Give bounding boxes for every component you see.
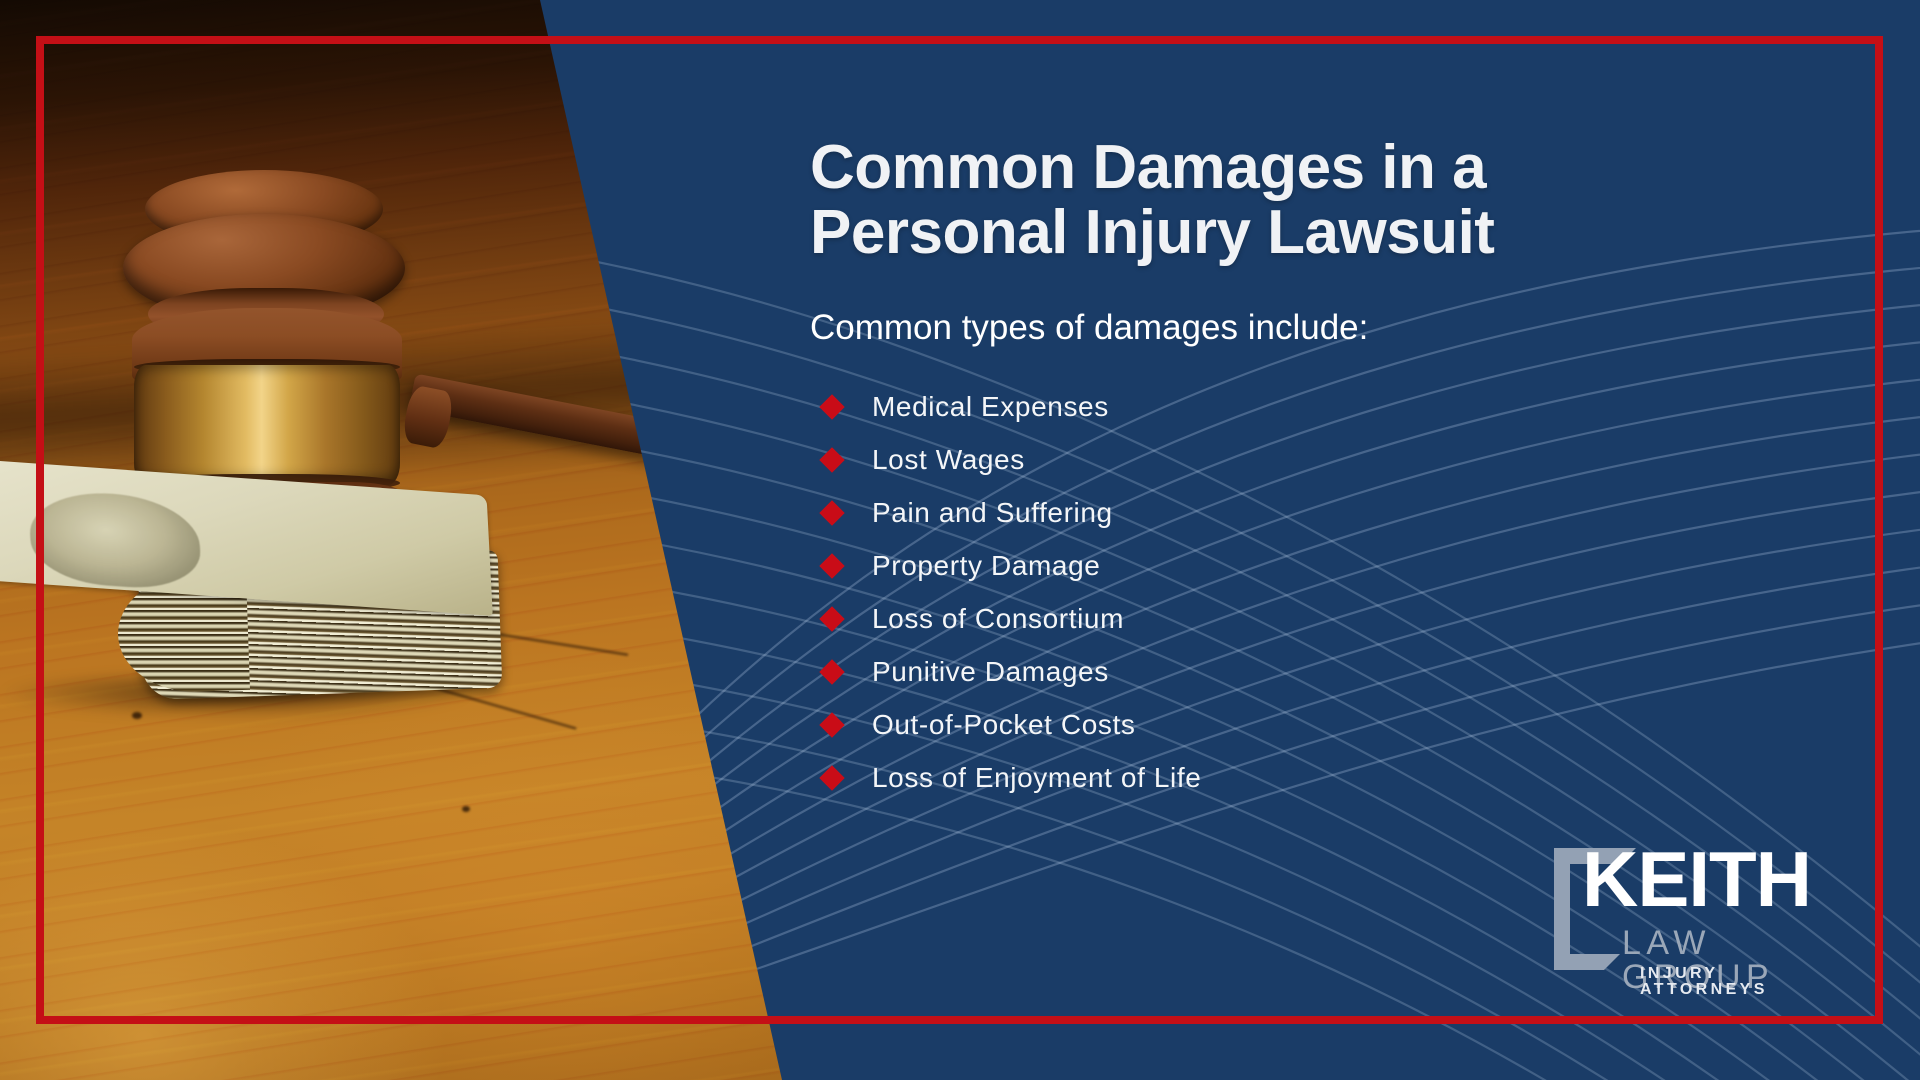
list-item: Punitive Damages — [810, 656, 1790, 688]
diamond-bullet-icon — [819, 712, 844, 737]
list-item-label: Lost Wages — [872, 444, 1025, 476]
list-item-label: Out-of-Pocket Costs — [872, 709, 1135, 741]
list-item-label: Punitive Damages — [872, 656, 1109, 688]
damages-list: Medical Expenses Lost Wages Pain and Suf… — [810, 391, 1790, 794]
list-item-label: Loss of Enjoyment of Life — [872, 762, 1201, 794]
list-item: Loss of Enjoyment of Life — [810, 762, 1790, 794]
list-item: Pain and Suffering — [810, 497, 1790, 529]
wood-speck — [462, 806, 470, 812]
diamond-bullet-icon — [819, 394, 844, 419]
logo-tagline-text: INJURY ATTORNEYS — [1640, 966, 1834, 998]
gavel-brass-band — [134, 365, 400, 485]
subtitle: Common types of damages include: — [810, 307, 1790, 349]
page-title: Common Damages in a Personal Injury Laws… — [810, 135, 1620, 265]
list-item-label: Medical Expenses — [872, 391, 1109, 423]
diamond-bullet-icon — [819, 606, 844, 631]
slide-canvas: Common Damages in a Personal Injury Laws… — [0, 0, 1920, 1080]
list-item: Property Damage — [810, 550, 1790, 582]
list-item-label: Pain and Suffering — [872, 497, 1113, 529]
list-item-label: Property Damage — [872, 550, 1100, 582]
money-stack — [0, 478, 510, 708]
list-item-label: Loss of Consortium — [872, 603, 1124, 635]
brand-logo: KEITH LAW GROUP INJURY ATTORNEYS — [1554, 840, 1834, 990]
diamond-bullet-icon — [819, 447, 844, 472]
diamond-bullet-icon — [819, 500, 844, 525]
list-item: Medical Expenses — [810, 391, 1790, 423]
list-item: Out-of-Pocket Costs — [810, 709, 1790, 741]
list-item: Lost Wages — [810, 444, 1790, 476]
diamond-bullet-icon — [819, 765, 844, 790]
logo-brand-text: KEITH — [1582, 840, 1811, 918]
content-column: Common Damages in a Personal Injury Laws… — [810, 135, 1790, 815]
list-item: Loss of Consortium — [810, 603, 1790, 635]
diamond-bullet-icon — [819, 659, 844, 684]
gavel-handle-collar — [401, 384, 455, 449]
diamond-bullet-icon — [819, 553, 844, 578]
